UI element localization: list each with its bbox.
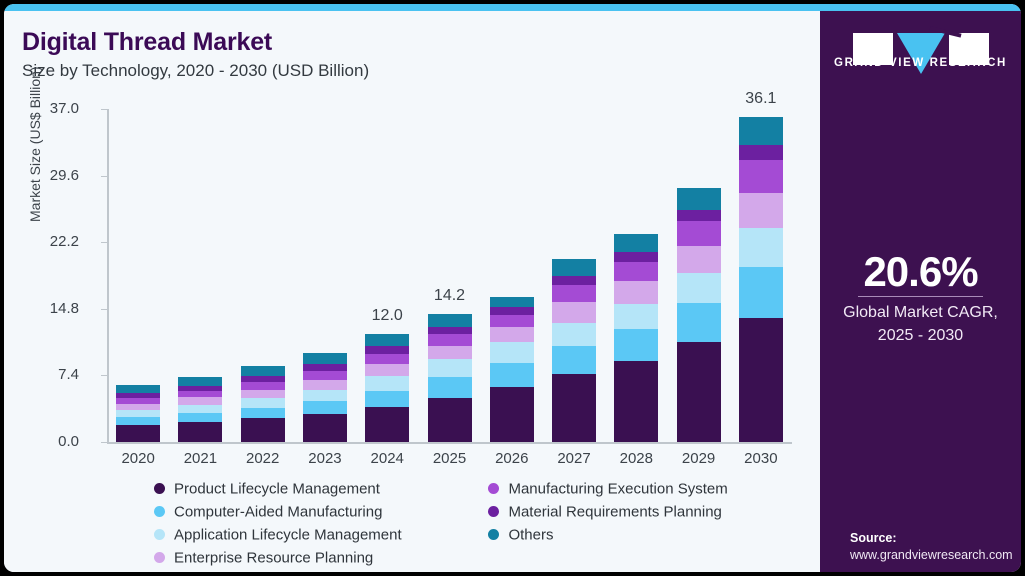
x-tick-label: 2028 [601,450,671,467]
x-tick-label: 2024 [352,450,422,467]
bar-segment[interactable] [677,342,721,442]
bar-segment[interactable] [614,262,658,282]
bar-segment[interactable] [241,418,285,442]
stacked-bar[interactable] [552,259,596,442]
legend-label: Product Lifecycle Management [174,480,380,497]
bar-segment[interactable] [365,354,409,364]
bar-segment[interactable] [677,273,721,304]
stacked-bar[interactable] [116,385,160,442]
legend-swatch-icon [488,506,499,517]
bar-segment[interactable] [241,366,285,376]
infographic-card: Digital Thread Market Size by Technology… [0,0,1025,576]
bar-segment[interactable] [614,329,658,361]
bar-segment[interactable] [614,304,658,329]
bar-segment[interactable] [116,417,160,425]
legend-swatch-icon [488,529,499,540]
legend-item[interactable]: Product Lifecycle Management [154,477,484,500]
bar-segment[interactable] [739,145,783,160]
bar-segment[interactable] [303,414,347,442]
bar-segment[interactable] [365,334,409,346]
legend-label: Computer-Aided Manufacturing [174,503,382,520]
bar-segment[interactable] [490,387,534,442]
cagr-value: 20.6% [820,248,1021,296]
y-tick-label: 29.6 [4,167,79,184]
y-tick-mark [101,176,107,177]
bar-segment[interactable] [241,390,285,398]
bar-segment[interactable] [490,327,534,342]
legend-label: Others [508,526,553,543]
legend-item[interactable]: Computer-Aided Manufacturing [154,500,484,523]
y-tick-mark [101,442,107,443]
bar-segment[interactable] [552,346,596,374]
bar-segment[interactable] [490,342,534,363]
bar-segment[interactable] [552,323,596,346]
cagr-caption: Global Market CAGR, 2025 - 2030 [820,301,1021,347]
y-tick-label: 22.2 [4,233,79,250]
bar-segment[interactable] [677,221,721,245]
source-label: Source: [850,531,897,545]
bar-segment[interactable] [739,228,783,268]
legend-item[interactable]: Material Requirements Planning [488,500,727,523]
bar-segment[interactable] [241,398,285,408]
y-tick-label: 0.0 [4,433,79,450]
bar-segment[interactable] [303,401,347,414]
bar-segment[interactable] [241,382,285,390]
legend-label: Material Requirements Planning [508,503,721,520]
legend-swatch-icon [154,529,165,540]
gvr-logo-g-notch [836,28,862,32]
brand-name: GRAND VIEW RESEARCH [820,57,1021,69]
bar-segment[interactable] [365,376,409,391]
stacked-bar[interactable] [241,366,285,442]
x-tick-label: 2021 [165,450,235,467]
bar-segment[interactable] [178,405,222,413]
x-tick-label: 2025 [415,450,485,467]
bar-segment[interactable] [490,315,534,328]
cagr-caption-line2: 2025 - 2030 [820,324,1021,347]
y-tick-label: 37.0 [4,100,79,117]
page-subtitle: Size by Technology, 2020 - 2030 (USD Bil… [22,61,369,81]
bar-segment[interactable] [365,391,409,407]
x-tick-label: 2020 [103,450,173,467]
bar-segment[interactable] [365,346,409,353]
legend-label: Application Lifecycle Management [174,526,402,543]
bar-segment[interactable] [677,246,721,273]
bar-segment[interactable] [614,252,658,262]
chart-panel: Digital Thread Market Size by Technology… [4,11,820,572]
y-axis-line [107,109,109,442]
bar-segment[interactable] [428,314,472,327]
legend-item[interactable]: Manufacturing Execution System [488,477,727,500]
bar-segment[interactable] [677,303,721,342]
bar-segment[interactable] [116,425,160,442]
bar-segment[interactable] [178,397,222,404]
bar-segment[interactable] [677,188,721,210]
bar-segment[interactable] [303,390,347,402]
legend-swatch-icon [488,483,499,494]
bar-segment[interactable] [490,363,534,387]
x-tick-label: 2022 [228,450,298,467]
bar-segment[interactable] [428,334,472,345]
x-tick-label: 2026 [477,450,547,467]
plot-area: Market Size (US$ Billion) 0.07.414.822.2… [107,102,792,442]
stacked-bar[interactable] [490,297,534,442]
legend-item[interactable]: Others [488,523,727,546]
legend-column-right: Manufacturing Execution SystemMaterial R… [488,477,727,546]
stacked-bar[interactable] [677,188,721,442]
y-tick-mark [101,242,107,243]
y-tick-mark [101,109,107,110]
cagr-caption-line1: Global Market CAGR, [820,301,1021,324]
accent-top-bar [4,4,1021,11]
bar-segment[interactable] [552,276,596,285]
bar-segment[interactable] [178,391,222,398]
bar-segment[interactable] [614,234,658,252]
bar-segment[interactable] [303,371,347,380]
legend-column-left: Product Lifecycle ManagementComputer-Aid… [154,477,484,569]
x-tick-label: 2030 [726,450,796,467]
bar-value-label: 36.1 [721,90,801,108]
bar-segment[interactable] [365,407,409,442]
x-axis-line [107,442,792,444]
bar-segment[interactable] [739,267,783,317]
bar-segment[interactable] [552,374,596,442]
legend-label: Manufacturing Execution System [508,480,727,497]
bar-segment[interactable] [552,302,596,323]
bar-segment[interactable] [739,193,783,228]
bar-segment[interactable] [428,398,472,442]
brand-side-panel: GRAND VIEW RESEARCH 20.6% Global Market … [820,11,1021,572]
cagr-divider [858,296,983,297]
bar-segment[interactable] [178,422,222,442]
bar-segment[interactable] [178,413,222,422]
page-title: Digital Thread Market [22,28,272,57]
x-tick-label: 2023 [290,450,360,467]
bar-segment[interactable] [428,377,472,397]
bar-segment[interactable] [178,377,222,386]
bar-segment[interactable] [365,364,409,376]
stacked-bar[interactable] [178,377,222,442]
y-axis-title: Market Size (US$ Billion) [27,22,43,222]
x-tick-label: 2027 [539,450,609,467]
bar-value-label: 12.0 [347,307,427,325]
stacked-bar[interactable] [614,234,658,442]
bar-value-label: 14.2 [410,287,490,305]
y-tick-label: 14.8 [4,300,79,317]
bar-segment[interactable] [739,160,783,192]
legend-item[interactable]: Application Lifecycle Management [154,523,484,546]
bar-segment[interactable] [739,318,783,442]
bar-segment[interactable] [303,353,347,364]
x-tick-label: 2029 [664,450,734,467]
y-tick-mark [101,309,107,310]
legend-swatch-icon [154,506,165,517]
y-tick-label: 7.4 [4,366,79,383]
bar-segment[interactable] [552,259,596,275]
source-url[interactable]: www.grandviewresearch.com [850,548,1013,562]
bar-segment[interactable] [614,281,658,304]
bar-segment[interactable] [116,410,160,417]
bar-segment[interactable] [490,307,534,315]
bar-segment[interactable] [739,117,783,145]
bar-segment[interactable] [614,361,658,442]
card-inner: Digital Thread Market Size by Technology… [4,4,1021,572]
bar-segment[interactable] [303,380,347,390]
bar-segment[interactable] [428,346,472,359]
bar-segment[interactable] [241,408,285,418]
stacked-bar[interactable] [428,314,472,442]
legend-item[interactable]: Enterprise Resource Planning [154,546,484,569]
y-tick-mark [101,375,107,376]
bar-segment[interactable] [490,297,534,306]
bar-segment[interactable] [552,285,596,303]
bar-segment[interactable] [677,210,721,222]
stacked-bar[interactable] [303,353,347,442]
stacked-bar[interactable] [739,117,783,442]
stacked-bar[interactable] [365,334,409,442]
legend: Product Lifecycle ManagementComputer-Aid… [154,477,814,569]
legend-label: Enterprise Resource Planning [174,549,373,566]
bar-segment[interactable] [116,385,160,393]
legend-swatch-icon [154,483,165,494]
legend-swatch-icon [154,552,165,563]
bar-segment[interactable] [428,327,472,334]
bar-segment[interactable] [428,359,472,378]
